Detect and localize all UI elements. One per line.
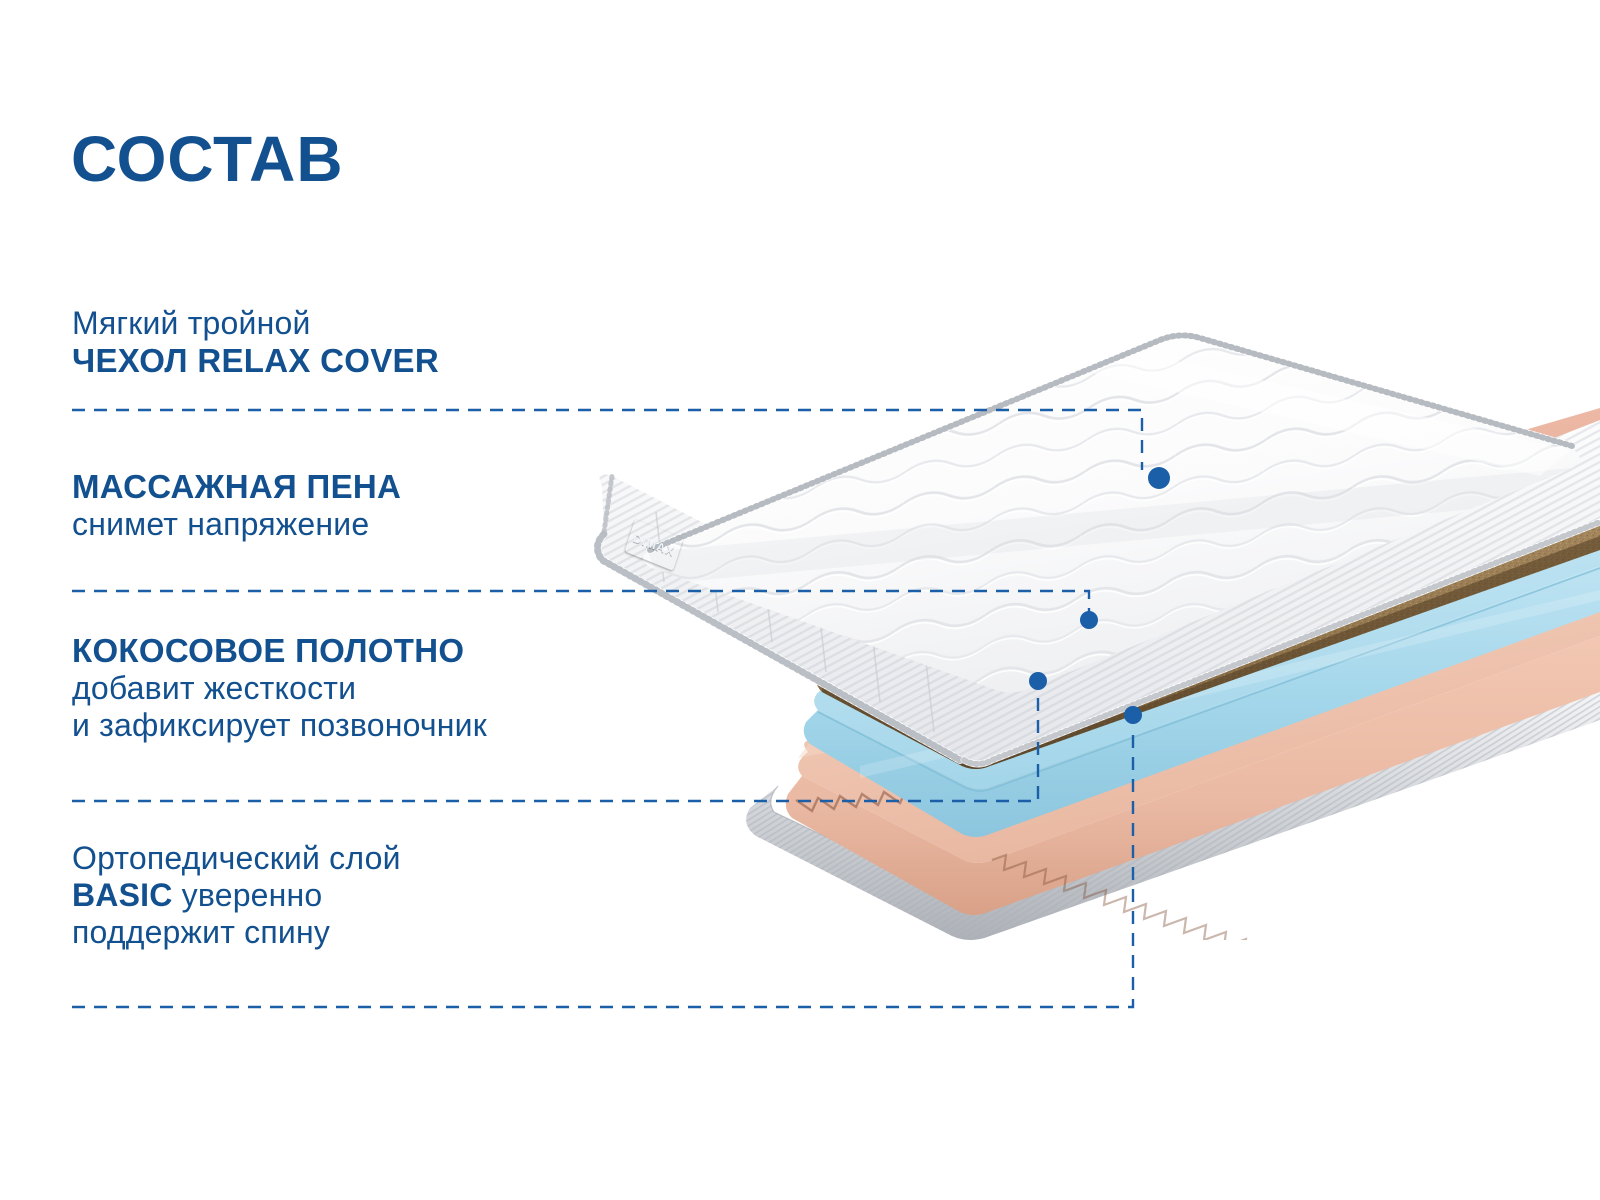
spec-block-massage-foam: МАССАЖНАЯ ПЕНА снимет напряжение [72,468,401,543]
spec-block-coconut-coir: КОКОСОВОЕ ПОЛОТНО добавит жесткости и за… [72,632,487,744]
spec-emphasis: BASIC [72,877,173,913]
spec-block-cover: Мягкий тройной ЧЕХОЛ RELAX COVER [72,305,439,380]
brand-tag-label: DIMAX [632,531,677,559]
spec-line: КОКОСОВОЕ ПОЛОТНО [72,632,487,670]
spec-line-mixed: BASIC уверенно [72,877,401,914]
composition-infographic: СОСТАВ Мягкий тройной ЧЕХОЛ RELAX COVER … [0,0,1600,1200]
spec-line: и зафиксирует позвоночник [72,707,487,744]
page-title: СОСТАВ [71,127,344,191]
mattress-illustration: DIMAX [560,300,1600,940]
spec-line-rest: уверенно [173,877,323,913]
spec-line: добавит жесткости [72,670,487,707]
spec-line: ЧЕХОЛ RELAX COVER [72,342,439,380]
spec-line: поддержит спину [72,914,401,951]
spec-block-basic-layer: Ортопедический слой BASIC уверенно подде… [72,840,401,951]
spec-line: снимет напряжение [72,506,401,543]
spec-line: МАССАЖНАЯ ПЕНА [72,468,401,506]
spec-line: Мягкий тройной [72,305,439,342]
spec-line: Ортопедический слой [72,840,401,877]
